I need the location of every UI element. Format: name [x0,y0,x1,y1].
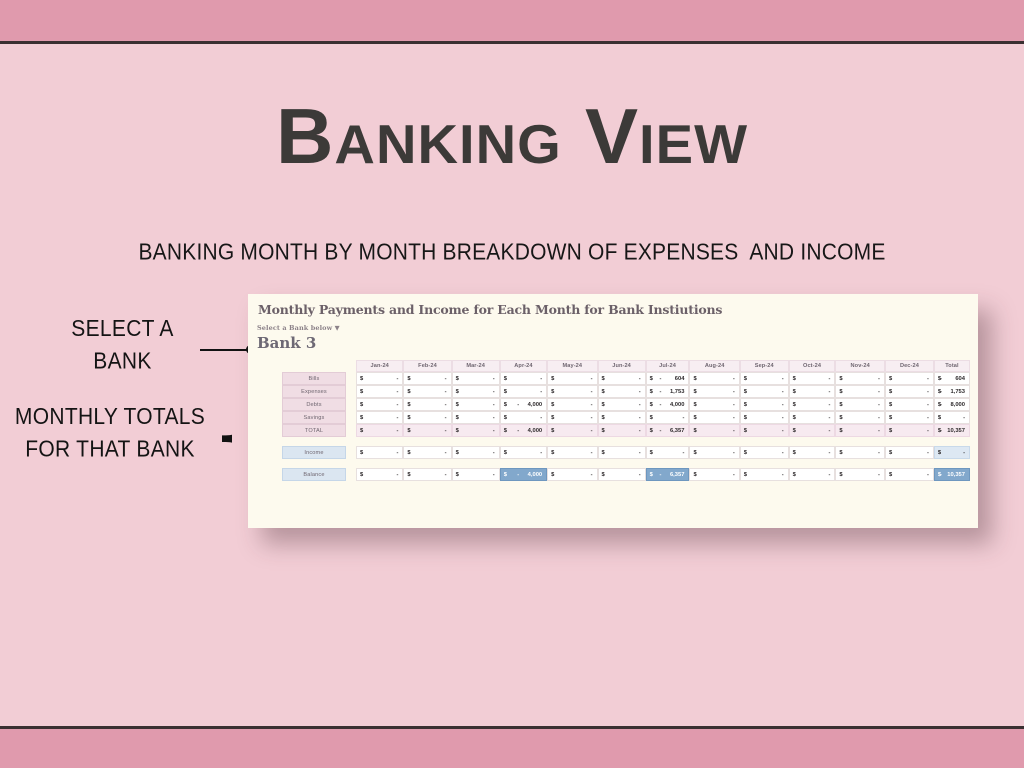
cell-value: - [782,428,784,434]
table-row: Balance$-$-$-$-4,000$-$-$-6,357$-$-$-$-$… [282,468,970,481]
currency-symbol: $ [602,415,605,421]
currency-symbol: $ [693,389,696,395]
table-cell[interactable]: $- [356,411,403,424]
annotation-select-a-bank: SELECT A BANK [35,313,210,378]
table-cell[interactable]: $- [789,424,836,437]
table-cell[interactable]: $- [835,446,885,459]
cell-value: - [591,472,593,478]
table-row: Bills$-$-$-$-$-$-$-604$-$-$-$-$-$-604 [282,372,970,385]
currency-symbol: $ [693,415,696,421]
currency-symbol: $ [744,415,747,421]
table-row: Income$-$-$-$-$-$-$-$-$-$-$-$-$- [282,446,970,459]
table-cell[interactable]: $- [356,385,403,398]
table-cell[interactable]: $- [452,446,500,459]
cell-value: - [878,389,880,395]
currency-symbol: $ [793,389,796,395]
currency-symbol: $ [504,389,507,395]
table-cell[interactable]: $- [500,446,547,459]
currency-symbol: $ [839,415,842,421]
row-label-total: TOTAL [282,424,346,437]
table-cell[interactable]: $- [646,411,690,424]
currency-symbol: $ [456,415,459,421]
currency-symbol: $ [938,450,941,456]
table-cell[interactable]: $- [885,385,934,398]
currency-symbol: $ [456,472,459,478]
table-cell[interactable]: $-10,357 [934,424,970,437]
table-cell[interactable]: $- [598,398,646,411]
table-cell[interactable]: $-604 [646,372,690,385]
table-row: Debts$-$-$-$-4,000$-$-$-4,000$-$-$-$-$-$… [282,398,970,411]
cell-value: - [927,402,929,408]
bottom-color-band [0,729,1024,768]
row-label-income: Income [282,446,346,459]
cell-value: - [733,389,735,395]
table-cell[interactable]: $-6,357 [646,468,690,481]
cell-value: - [445,389,447,395]
row-label-savings: Savings [282,411,346,424]
table-cell[interactable]: $- [689,411,739,424]
cell-value: - [927,450,929,456]
table-cell[interactable]: $- [403,468,451,481]
table-cell[interactable]: $- [547,468,597,481]
table-cell[interactable]: $-6,357 [646,424,690,437]
currency-symbol: $ [504,415,507,421]
table-cell[interactable]: $- [740,398,789,411]
currency-symbol: $ [360,450,363,456]
cell-value: - [396,389,398,395]
cell-value: - [591,389,593,395]
currency-symbol: $ [650,415,653,421]
currency-symbol: $ [602,428,605,434]
column-header-oct-24: Oct-24 [789,360,836,372]
currency-symbol: $ [504,402,507,408]
table-row: Expenses$-$-$-$-$-$-$-1,753$-$-$-$-$-$-1… [282,385,970,398]
table-cell[interactable]: $- [885,446,934,459]
cell-value: 604 [955,376,965,382]
cell-value: - [782,415,784,421]
cell-dash: - [660,428,662,434]
table-cell[interactable]: $- [885,398,934,411]
currency-symbol: $ [407,402,410,408]
cell-value: - [733,415,735,421]
currency-symbol: $ [360,376,363,382]
gap-cell [346,446,356,459]
table-cell[interactable]: $- [356,468,403,481]
cell-value: - [639,428,641,434]
table-cell[interactable]: $- [689,468,739,481]
cell-value: - [396,472,398,478]
cell-value: 4,000 [528,428,543,434]
table-cell[interactable]: $- [885,424,934,437]
cell-value: - [828,428,830,434]
cell-value: - [683,415,685,421]
table-cell[interactable]: $- [835,411,885,424]
bank-selector-value[interactable]: Bank 3 [257,334,316,352]
table-cell[interactable]: $-4,000 [646,398,690,411]
curly-brace-icon: { [206,372,232,500]
table-cell[interactable]: $-8,000 [934,398,970,411]
column-header-nov-24: Nov-24 [835,360,885,372]
cell-value: - [878,415,880,421]
currency-symbol: $ [839,376,842,382]
currency-symbol: $ [793,472,796,478]
currency-symbol: $ [551,428,554,434]
table-cell[interactable]: $- [689,372,739,385]
table-cell[interactable]: $- [356,372,403,385]
cell-value: - [493,402,495,408]
currency-symbol: $ [693,402,696,408]
table-cell[interactable]: $- [500,385,547,398]
cell-value: - [396,402,398,408]
currency-symbol: $ [650,389,653,395]
cell-value: - [445,402,447,408]
table-cell[interactable]: $- [452,372,500,385]
cell-value: 6,357 [670,428,685,434]
table-head: Jan-24Feb-24Mar-24Apr-24May-24Jun-24Jul-… [282,360,970,372]
cell-value: - [493,428,495,434]
cell-dash: - [517,428,519,434]
table-cell[interactable]: $- [740,372,789,385]
table-cell[interactable]: $- [789,446,836,459]
currency-symbol: $ [889,428,892,434]
page-subtitle: BANKING MONTH BY MONTH BREAKDOWN OF EXPE… [0,238,1024,267]
cell-value: - [828,389,830,395]
spacer-row [282,459,970,468]
spacer-cell [282,437,970,446]
currency-symbol: $ [793,415,796,421]
currency-symbol: $ [650,428,653,434]
cell-dash: - [940,376,942,382]
currency-symbol: $ [793,402,796,408]
cell-dash: - [517,472,519,478]
cell-dash: - [517,402,519,408]
gap-cell [346,424,356,437]
currency-symbol: $ [456,450,459,456]
table-cell[interactable]: $- [885,468,934,481]
table-cell[interactable]: $- [547,411,597,424]
table-cell[interactable]: $- [835,468,885,481]
currency-symbol: $ [744,402,747,408]
cell-dash: - [940,472,942,478]
table-body: Bills$-$-$-$-$-$-$-604$-$-$-$-$-$-604Exp… [282,372,970,481]
cell-value: - [493,415,495,421]
top-divider-rule [0,41,1024,44]
currency-symbol: $ [407,415,410,421]
currency-symbol: $ [889,450,892,456]
cell-value: - [733,472,735,478]
cell-value: 1,753 [950,389,965,395]
table-cell[interactable]: $- [356,424,403,437]
table-cell[interactable]: $- [403,446,451,459]
column-header-may-24: May-24 [547,360,597,372]
cell-dash: - [660,376,662,382]
leader-line [200,349,250,351]
table-cell[interactable]: $- [598,385,646,398]
currency-symbol: $ [650,402,653,408]
currency-symbol: $ [693,376,696,382]
table-cell[interactable]: $- [547,385,597,398]
currency-symbol: $ [889,389,892,395]
currency-symbol: $ [551,472,554,478]
cell-value: - [396,450,398,456]
table-cell[interactable]: $-1,753 [646,385,690,398]
currency-symbol: $ [889,402,892,408]
cell-value: - [782,450,784,456]
table-cell[interactable]: $- [356,446,403,459]
table-cell[interactable]: $- [403,411,451,424]
table-cell[interactable]: $- [403,398,451,411]
currency-symbol: $ [602,402,605,408]
table-cell[interactable]: $- [789,398,836,411]
panel-title: Monthly Payments and Income for Each Mon… [258,302,722,317]
currency-symbol: $ [360,472,363,478]
currency-symbol: $ [551,450,554,456]
table-cell[interactable]: $- [740,385,789,398]
table-cell[interactable]: $- [885,372,934,385]
cell-value: - [782,402,784,408]
cell-value: - [733,428,735,434]
table-cell[interactable]: $- [547,424,597,437]
table-cell[interactable]: $- [598,372,646,385]
cell-dash: - [660,389,662,395]
table-cell[interactable]: $- [356,398,403,411]
spreadsheet-panel: Monthly Payments and Income for Each Mon… [248,294,978,528]
table-cell[interactable]: $- [740,424,789,437]
cell-value: - [927,472,929,478]
column-header-total: Total [934,360,970,372]
cell-value: - [828,450,830,456]
table-cell[interactable]: $- [598,446,646,459]
currency-symbol: $ [744,428,747,434]
column-header-jun-24: Jun-24 [598,360,646,372]
table-cell[interactable]: $- [835,372,885,385]
cell-value: 10,357 [947,472,965,478]
cell-value: - [828,376,830,382]
table-row: Savings$-$-$-$-$-$-$-$-$-$-$-$-$- [282,411,970,424]
cell-value: - [445,472,447,478]
cell-dash: - [940,428,942,434]
currency-symbol: $ [744,450,747,456]
currency-symbol: $ [744,472,747,478]
cell-value: - [878,428,880,434]
cell-value: 4,000 [528,472,543,478]
table-cell[interactable]: $- [598,468,646,481]
column-header-sep-24: Sep-24 [740,360,789,372]
currency-symbol: $ [793,376,796,382]
cell-value: - [639,472,641,478]
gap-cell [346,468,356,481]
cell-value: - [396,428,398,434]
table-cell[interactable]: $- [934,411,970,424]
page-title: Banking View [0,92,1024,180]
table-cell[interactable]: $- [547,446,597,459]
table-cell[interactable]: $- [500,372,547,385]
table-cell[interactable]: $- [835,424,885,437]
gap-cell [346,372,356,385]
table-cell[interactable]: $- [740,411,789,424]
table-cell[interactable]: $- [789,372,836,385]
table-cell[interactable]: $-1,753 [934,385,970,398]
cell-value: - [445,415,447,421]
row-label-bills: Bills [282,372,346,385]
table-cell[interactable]: $-4,000 [500,398,547,411]
cell-value: - [591,376,593,382]
currency-symbol: $ [551,376,554,382]
cell-value: 1,753 [670,389,685,395]
table-cell[interactable]: $- [689,385,739,398]
table-cell[interactable]: $- [598,424,646,437]
table-cell[interactable]: $- [689,398,739,411]
cell-value: - [828,402,830,408]
table-cell[interactable]: $- [789,411,836,424]
spacer-row [282,437,970,446]
currency-symbol: $ [793,450,796,456]
currency-symbol: $ [650,450,653,456]
cell-value: - [828,415,830,421]
currency-symbol: $ [602,450,605,456]
table-cell[interactable]: $- [789,385,836,398]
cell-value: - [396,376,398,382]
cell-value: - [445,450,447,456]
column-header-dec-24: Dec-24 [885,360,934,372]
table-cell[interactable]: $- [452,468,500,481]
cell-value: - [878,450,880,456]
table-cell[interactable]: $-4,000 [500,424,547,437]
table-cell[interactable]: $- [403,424,451,437]
currency-symbol: $ [693,472,696,478]
table-cell[interactable]: $- [934,446,970,459]
currency-symbol: $ [360,402,363,408]
currency-symbol: $ [504,450,507,456]
cell-value: 10,357 [947,428,965,434]
currency-symbol: $ [551,389,554,395]
cell-value: - [782,376,784,382]
cell-value: - [493,389,495,395]
cell-value: - [878,472,880,478]
table-cell[interactable]: $- [835,398,885,411]
table-cell[interactable]: $- [740,468,789,481]
currency-symbol: $ [456,428,459,434]
cell-value: - [639,389,641,395]
cell-value: - [396,415,398,421]
cell-dash: - [940,389,942,395]
table-cell[interactable]: $-604 [934,372,970,385]
currency-symbol: $ [793,428,796,434]
table-cell[interactable]: $- [452,385,500,398]
column-header-feb-24: Feb-24 [403,360,451,372]
table-cell[interactable]: $- [547,372,597,385]
banking-table: Jan-24Feb-24Mar-24Apr-24May-24Jun-24Jul-… [282,360,970,481]
cell-value: 4,000 [528,402,543,408]
gap-cell [346,360,356,372]
table-cell[interactable]: $- [452,411,500,424]
currency-symbol: $ [889,472,892,478]
column-header-jul-24: Jul-24 [646,360,690,372]
currency-symbol: $ [602,376,605,382]
table-cell[interactable]: $- [885,411,934,424]
cell-value: - [639,415,641,421]
cell-value: - [639,450,641,456]
currency-symbol: $ [650,472,653,478]
currency-symbol: $ [504,472,507,478]
currency-symbol: $ [693,428,696,434]
currency-symbol: $ [839,402,842,408]
table-cell[interactable]: $- [689,424,739,437]
table-cell[interactable]: $- [689,446,739,459]
row-label-expenses: Expenses [282,385,346,398]
currency-symbol: $ [456,376,459,382]
table-cell[interactable]: $- [547,398,597,411]
cell-value: 8,000 [950,402,965,408]
cell-value: - [493,450,495,456]
cell-value: - [782,389,784,395]
currency-symbol: $ [407,376,410,382]
cell-value: - [828,472,830,478]
row-label-debts: Debts [282,398,346,411]
banking-table-wrapper: Jan-24Feb-24Mar-24Apr-24May-24Jun-24Jul-… [282,360,970,481]
spacer-cell [282,459,970,468]
currency-symbol: $ [889,376,892,382]
cell-value: - [927,376,929,382]
currency-symbol: $ [407,428,410,434]
column-header-jan-24: Jan-24 [356,360,403,372]
table-cell[interactable]: $- [500,411,547,424]
table-cell[interactable]: $-10,357 [934,468,970,481]
cell-value: - [639,402,641,408]
table-cell[interactable]: $- [740,446,789,459]
table-cell[interactable]: $-4,000 [500,468,547,481]
cell-value: - [733,376,735,382]
currency-symbol: $ [551,402,554,408]
currency-symbol: $ [839,389,842,395]
table-cell[interactable]: $- [789,468,836,481]
currency-symbol: $ [693,450,696,456]
currency-symbol: $ [938,415,941,421]
currency-symbol: $ [551,415,554,421]
cell-value: - [878,376,880,382]
currency-symbol: $ [407,472,410,478]
cell-value: - [591,402,593,408]
currency-symbol: $ [650,376,653,382]
currency-symbol: $ [602,472,605,478]
cell-value: - [493,472,495,478]
select-bank-label[interactable]: Select a Bank below ▼ [257,324,340,332]
column-header-mar-24: Mar-24 [452,360,500,372]
annotation-monthly-totals: MONTHLY TOTALS FOR THAT BANK [6,401,214,466]
table-cell[interactable]: $- [403,385,451,398]
cell-value: - [733,402,735,408]
currency-symbol: $ [504,428,507,434]
cell-value: 604 [675,376,685,382]
gap-cell [346,385,356,398]
table-cell[interactable]: $- [646,446,690,459]
table-cell[interactable]: $- [598,411,646,424]
currency-symbol: $ [744,376,747,382]
cell-value: - [683,450,685,456]
currency-symbol: $ [839,428,842,434]
table-cell[interactable]: $- [835,385,885,398]
cell-dash: - [940,402,942,408]
currency-symbol: $ [602,389,605,395]
bottom-divider-rule [0,726,1024,729]
table-cell[interactable]: $- [452,398,500,411]
table-cell[interactable]: $- [403,372,451,385]
currency-symbol: $ [360,389,363,395]
cell-value: - [445,428,447,434]
currency-symbol: $ [889,415,892,421]
currency-symbol: $ [456,389,459,395]
table-cell[interactable]: $- [452,424,500,437]
